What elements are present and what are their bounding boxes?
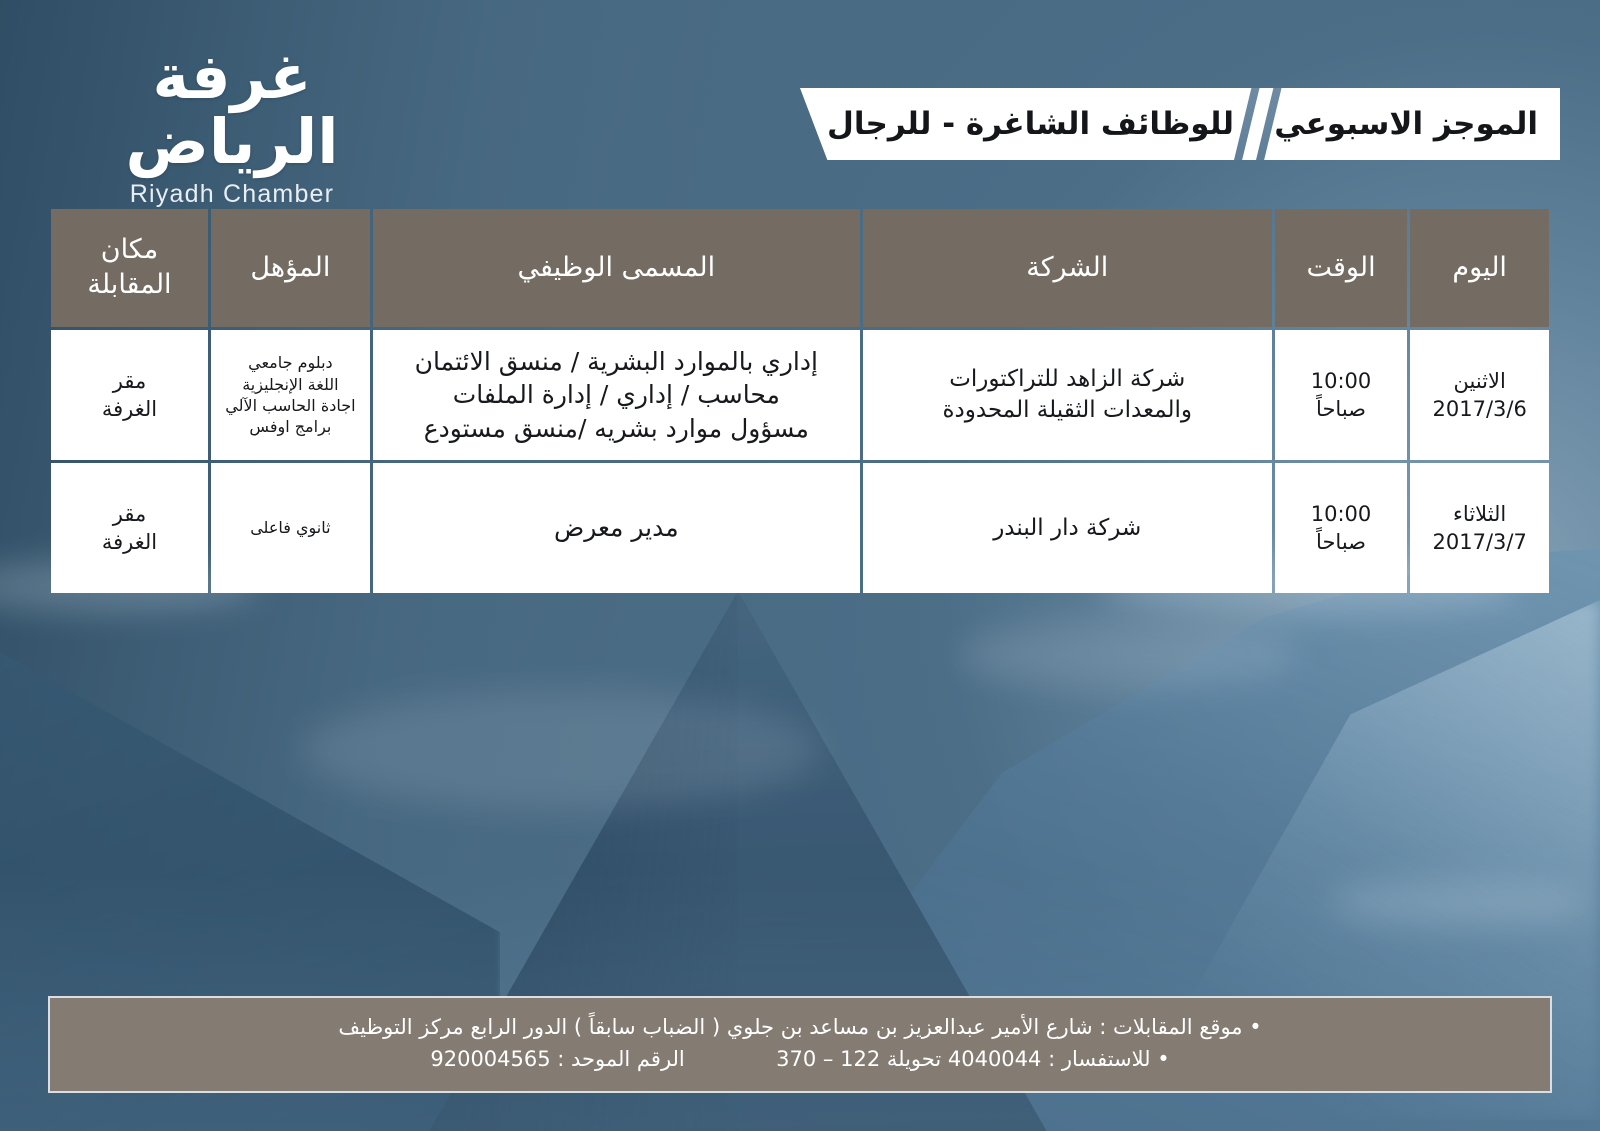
cell-company: شركة دار البندر — [863, 463, 1272, 593]
job-title-line1: مدير معرض — [381, 511, 852, 545]
logo-english-wordmark: Riyadh Chamber — [52, 180, 412, 209]
cell-day: الثلاثاء 2017/3/7 — [1410, 463, 1549, 593]
place-line2: الغرفة — [59, 528, 200, 556]
time-period: صباحاً — [1283, 528, 1400, 556]
day-name: الاثنين — [1418, 367, 1541, 395]
cell-qualification: دبلوم جامعي اللغة الإنجليزية اجادة الحاس… — [211, 330, 370, 460]
cell-job-title: مدير معرض — [373, 463, 860, 593]
qualification-line4: برامج اوفس — [219, 416, 362, 437]
place-line1: مقر — [59, 500, 200, 528]
day-name: الثلاثاء — [1418, 500, 1541, 528]
table-row: الثلاثاء 2017/3/7 10:00 صباحاً شركة دار … — [51, 463, 1549, 593]
qualification-line2: اللغة الإنجليزية — [219, 374, 362, 395]
footer-enquiry-phone: • للاستفسار : 4040044 تحويلة 122 – 370 — [776, 1047, 1169, 1071]
table-header-row: اليوم الوقت الشركة المسمى الوظيفي المؤهل… — [51, 209, 1549, 327]
place-line1: مقر — [59, 367, 200, 395]
company-line1: شركة الزاهد للتراكتورات — [871, 364, 1264, 395]
place-line2: الغرفة — [59, 395, 200, 423]
column-header-day: اليوم — [1410, 209, 1549, 327]
time-value: 10:00 — [1283, 367, 1400, 395]
qualification-line1: دبلوم جامعي — [219, 352, 362, 373]
company-line2: والمعدات الثقيلة المحدودة — [871, 395, 1264, 426]
qualification-line3: اجادة الحاسب الآلي — [219, 395, 362, 416]
footer-info-bar: • موقع المقابلات : شارع الأمير عبدالعزيز… — [48, 996, 1552, 1093]
brand-logo: غرفة الرياض Riyadh Chamber — [52, 44, 412, 209]
time-period: صباحاً — [1283, 395, 1400, 423]
footer-location-line: • موقع المقابلات : شارع الأمير عبدالعزيز… — [76, 1012, 1524, 1044]
qualification-line1: ثانوي فاعلى — [219, 517, 362, 538]
footer-unified-number: الرقم الموحد : 920004565 — [430, 1047, 684, 1071]
column-header-title: المسمى الوظيفي — [373, 209, 860, 327]
logo-arabic-wordmark: غرفة الرياض — [52, 44, 412, 174]
column-header-place: مكان المقابلة — [51, 209, 208, 327]
column-header-place-line2: المقابلة — [57, 268, 202, 303]
cell-day: الاثنين 2017/3/6 — [1410, 330, 1549, 460]
cell-time: 10:00 صباحاً — [1275, 330, 1408, 460]
header-title-secondary: للوظائف الشاغرة - للرجال — [827, 88, 1234, 160]
cell-interview-place: مقر الغرفة — [51, 330, 208, 460]
job-title-line1: إداري بالموارد البشرية / منسق الائتمان — [381, 345, 852, 379]
cell-job-title: إداري بالموارد البشرية / منسق الائتمان م… — [373, 330, 860, 460]
day-date: 2017/3/6 — [1418, 395, 1541, 423]
time-value: 10:00 — [1283, 500, 1400, 528]
title-ribbon: الموجز الاسبوعي للوظائف الشاغرة - للرجال — [800, 88, 1560, 160]
cell-qualification: ثانوي فاعلى — [211, 463, 370, 593]
column-header-place-line1: مكان — [57, 233, 202, 268]
company-line1: شركة دار البندر — [871, 513, 1264, 544]
column-header-qualification: المؤهل — [211, 209, 370, 327]
day-date: 2017/3/7 — [1418, 528, 1541, 556]
table-row: الاثنين 2017/3/6 10:00 صباحاً شركة الزاه… — [51, 330, 1549, 460]
job-title-line3: مسؤول موارد بشريه /منسق مستودع — [381, 412, 852, 446]
cell-interview-place: مقر الغرفة — [51, 463, 208, 593]
footer-contact-line: • للاستفسار : 4040044 تحويلة 122 – 370 ا… — [76, 1044, 1524, 1076]
column-header-time: الوقت — [1275, 209, 1408, 327]
header-title-primary: الموجز الاسبوعي — [1274, 88, 1538, 160]
job-title-line2: محاسب / إداري / إدارة الملفات — [381, 378, 852, 412]
vacancies-table: اليوم الوقت الشركة المسمى الوظيفي المؤهل… — [48, 206, 1552, 596]
column-header-company: الشركة — [863, 209, 1272, 327]
cell-company: شركة الزاهد للتراكتورات والمعدات الثقيلة… — [863, 330, 1272, 460]
cell-time: 10:00 صباحاً — [1275, 463, 1408, 593]
poster-canvas: غرفة الرياض Riyadh Chamber الموجز الاسبو… — [0, 0, 1600, 1131]
